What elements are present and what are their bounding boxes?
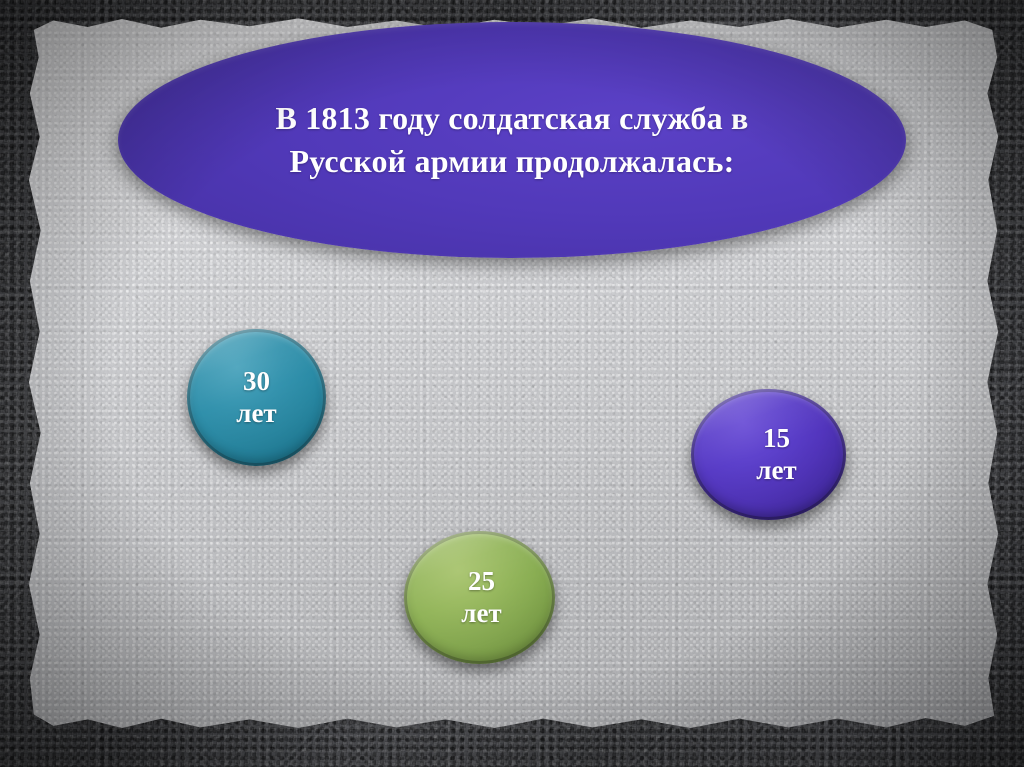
question-text: В 1813 году солдатская служба в Русской … bbox=[232, 97, 792, 183]
answer-option-25[interactable]: 25лет bbox=[404, 531, 555, 664]
answer-option-15[interactable]: 15лет bbox=[691, 389, 846, 520]
question-bubble: В 1813 году солдатская служба в Русской … bbox=[118, 22, 906, 258]
answer-option-30-label: 30лет bbox=[236, 366, 276, 429]
answer-option-15-label: 15лет bbox=[756, 423, 796, 486]
answer-option-30[interactable]: 30лет bbox=[187, 329, 326, 466]
answer-option-25-label: 25лет bbox=[461, 566, 501, 629]
presentation-slide: В 1813 году солдатская служба в Русской … bbox=[0, 0, 1024, 767]
